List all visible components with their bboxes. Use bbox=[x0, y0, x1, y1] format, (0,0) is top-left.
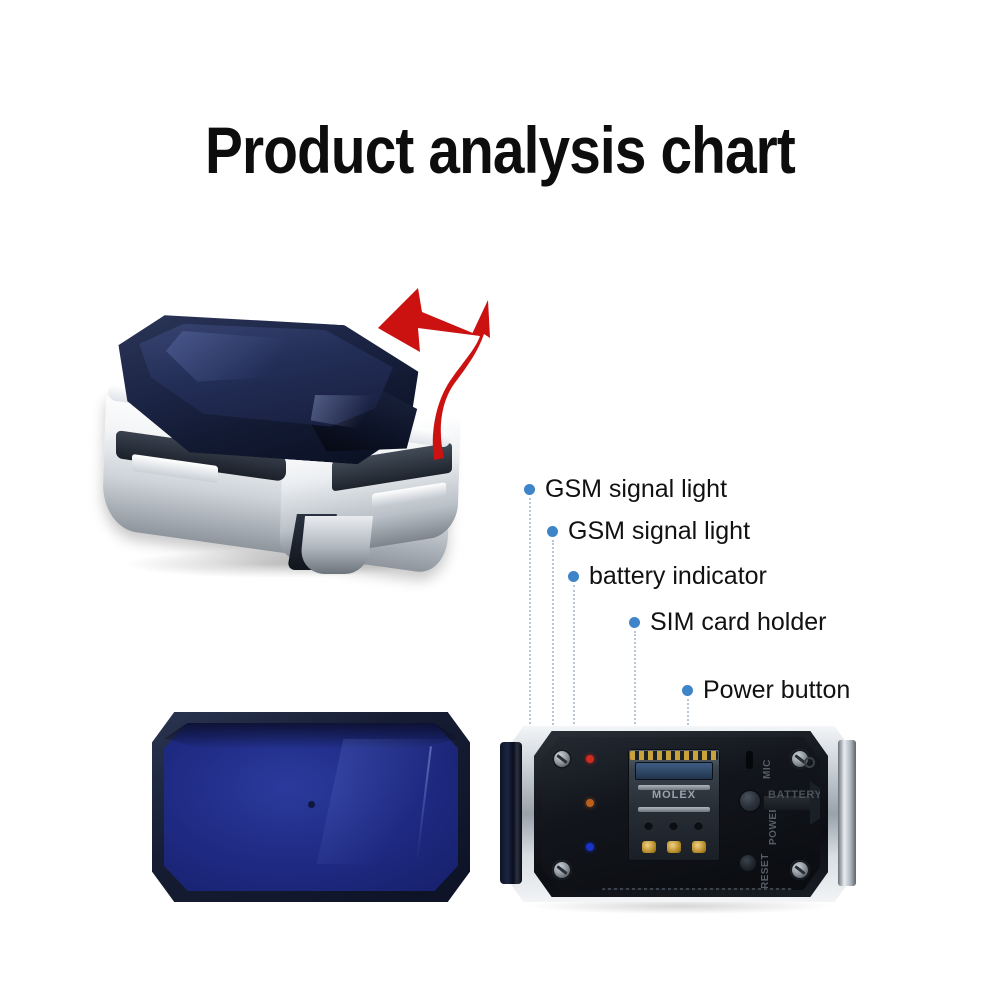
callout-label: SIM card holder bbox=[650, 610, 826, 635]
callout-gsm-signal-light-2[interactable]: GSM signal light bbox=[547, 519, 750, 544]
led-battery-orange bbox=[586, 799, 594, 807]
led-gsm-signal-blue bbox=[586, 843, 594, 851]
callout-label: GSM signal light bbox=[545, 477, 727, 502]
microphone-slot bbox=[746, 751, 753, 769]
screw-bottom-left bbox=[552, 860, 572, 880]
callout-dot-icon bbox=[547, 526, 558, 537]
callout-dot-icon bbox=[568, 571, 579, 582]
sim-hole-2 bbox=[669, 821, 678, 830]
sim-card-holder-tray[interactable]: MOLEX bbox=[628, 749, 720, 861]
callout-sim-card-holder[interactable]: SIM card holder bbox=[629, 610, 826, 635]
sim-gold-contact-3 bbox=[692, 841, 706, 853]
sim-gold-contact-1 bbox=[642, 841, 656, 853]
sim-hole-1 bbox=[644, 821, 653, 830]
interior-left-edge bbox=[500, 742, 522, 884]
interior-inner-plate: MOLEX MIC POWER RESET BATTERY bbox=[542, 737, 820, 890]
device-foot bbox=[299, 516, 373, 574]
led-gsm-signal-red bbox=[586, 755, 594, 763]
callout-battery-indicator[interactable]: battery indicator bbox=[568, 564, 767, 589]
callout-dot-icon bbox=[524, 484, 535, 495]
sim-hole-3 bbox=[694, 821, 703, 830]
cover-gloss bbox=[317, 739, 471, 864]
screw-bottom-right bbox=[790, 860, 810, 880]
reset-button[interactable] bbox=[740, 855, 756, 871]
callout-gsm-signal-light-1[interactable]: GSM signal light bbox=[524, 477, 727, 502]
callout-dot-icon bbox=[682, 685, 693, 696]
marking-mic-label: MIC bbox=[762, 759, 773, 779]
page-title: Product analysis chart bbox=[70, 112, 930, 188]
sim-gold-contact-2 bbox=[667, 841, 681, 853]
marking-reset-label: RESET bbox=[760, 853, 771, 889]
sim-contact-teeth bbox=[630, 751, 718, 760]
callout-dot-icon bbox=[629, 617, 640, 628]
sim-window bbox=[635, 762, 713, 780]
callout-power-button[interactable]: Power button bbox=[682, 678, 850, 703]
callout-label: Power button bbox=[703, 678, 850, 703]
interior-vent-circle bbox=[804, 757, 815, 768]
interior-right-edge bbox=[838, 740, 856, 886]
device-interior-view: MOLEX MIC POWER RESET BATTERY bbox=[506, 726, 852, 902]
cover-lift-arrow-icon bbox=[360, 282, 490, 462]
callout-label: GSM signal light bbox=[568, 519, 750, 544]
product-analysis-diagram: Product analysis chart bbox=[0, 0, 1000, 1000]
power-button[interactable] bbox=[738, 789, 762, 813]
callout-label: battery indicator bbox=[589, 564, 767, 589]
sim-logo-text: MOLEX bbox=[628, 789, 720, 801]
screw-top-left bbox=[552, 749, 572, 769]
sim-bar-2 bbox=[638, 807, 710, 812]
battery-embossed-text: BATTERY bbox=[768, 789, 822, 801]
blue-cover-flat bbox=[152, 712, 470, 902]
